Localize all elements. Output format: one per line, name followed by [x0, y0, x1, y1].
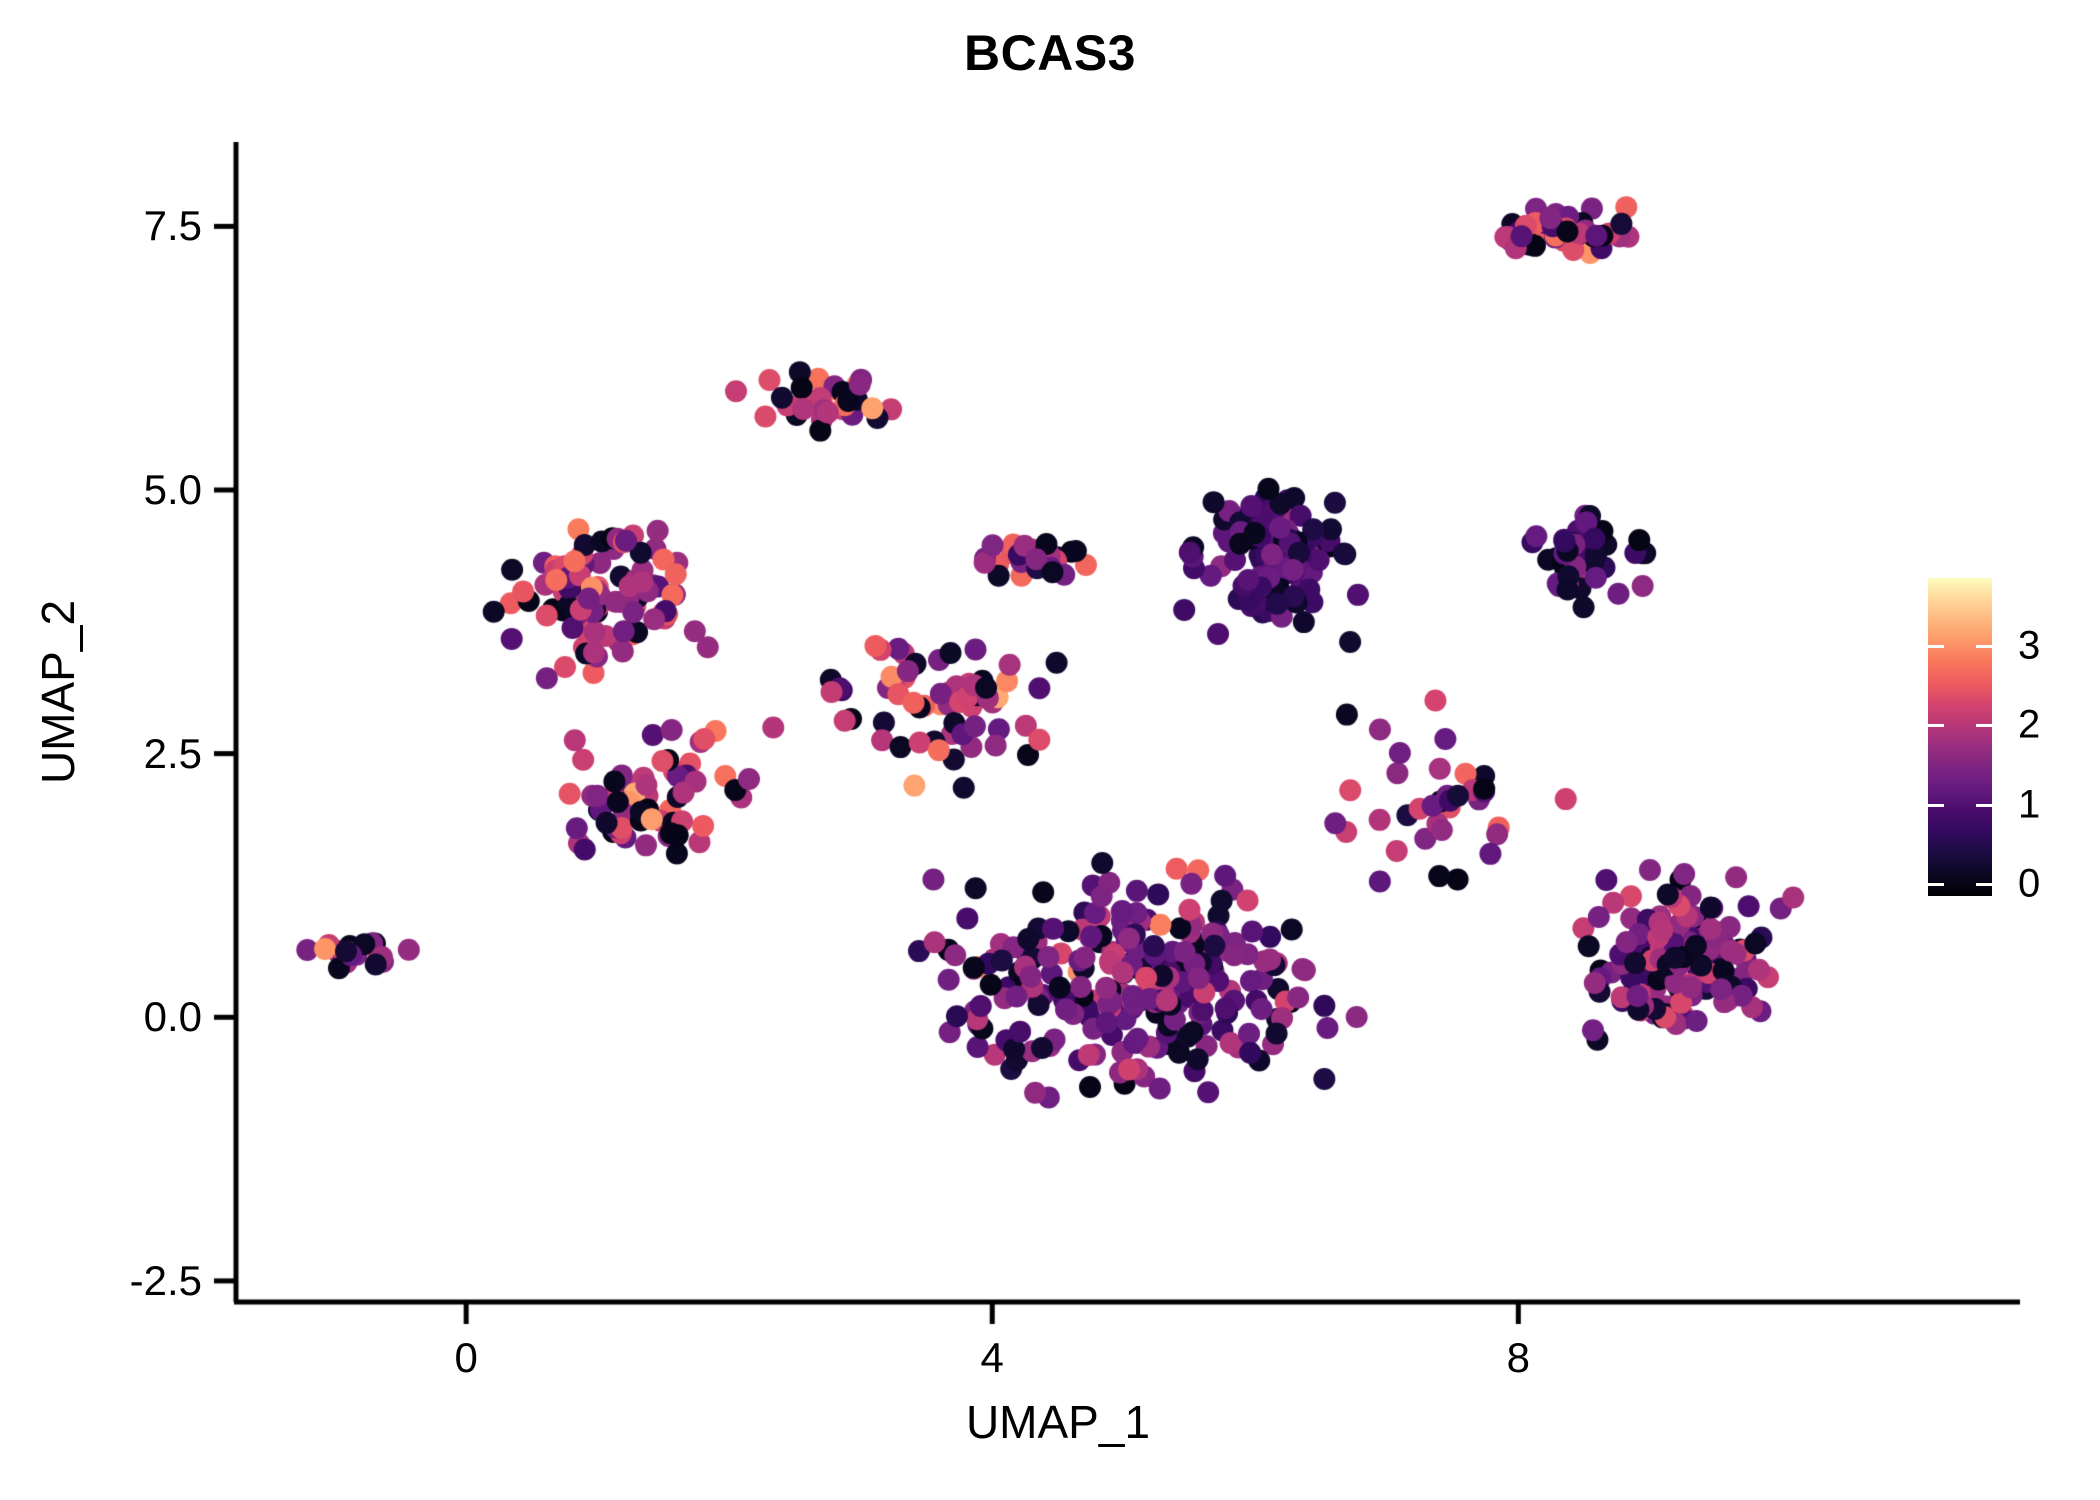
colorbar-tick-label: 1: [2018, 782, 2040, 827]
colorbar-tick-mark: [1928, 645, 1944, 648]
umap-feature-plot: BCAS3 UMAP_2 UMAP_1 -2.50.02.55.07.5 048…: [0, 0, 2100, 1500]
y-tick-label: 7.5: [144, 202, 202, 250]
colorbar-tick-label: 0: [2018, 862, 2040, 907]
colorbar-tick-mark: [1976, 883, 1992, 886]
colorbar-tick-mark: [1928, 883, 1944, 886]
y-tick-label: 2.5: [144, 730, 202, 778]
colorbar-gradient: [1928, 578, 1992, 896]
y-tick-label: 0.0: [144, 993, 202, 1041]
y-tick-label: -2.5: [130, 1257, 202, 1305]
y-axis-title: UMAP_2: [31, 372, 85, 1012]
scatter-plot-canvas: [0, 0, 2100, 1500]
colorbar-tick-mark: [1976, 804, 1992, 807]
y-tick-label: 5.0: [144, 466, 202, 514]
colorbar-tick-mark: [1928, 724, 1944, 727]
x-axis-title: UMAP_1: [236, 1395, 1880, 1449]
colorbar-tick-mark: [1976, 645, 1992, 648]
colorbar-tick-label: 2: [2018, 703, 2040, 748]
colorbar-tick-mark: [1928, 804, 1944, 807]
x-tick-label: 0: [454, 1334, 477, 1382]
colorbar-tick-mark: [1976, 724, 1992, 727]
colorbar-tick-label: 3: [2018, 623, 2040, 668]
x-tick-label: 4: [981, 1334, 1004, 1382]
x-tick-label: 8: [1507, 1334, 1530, 1382]
